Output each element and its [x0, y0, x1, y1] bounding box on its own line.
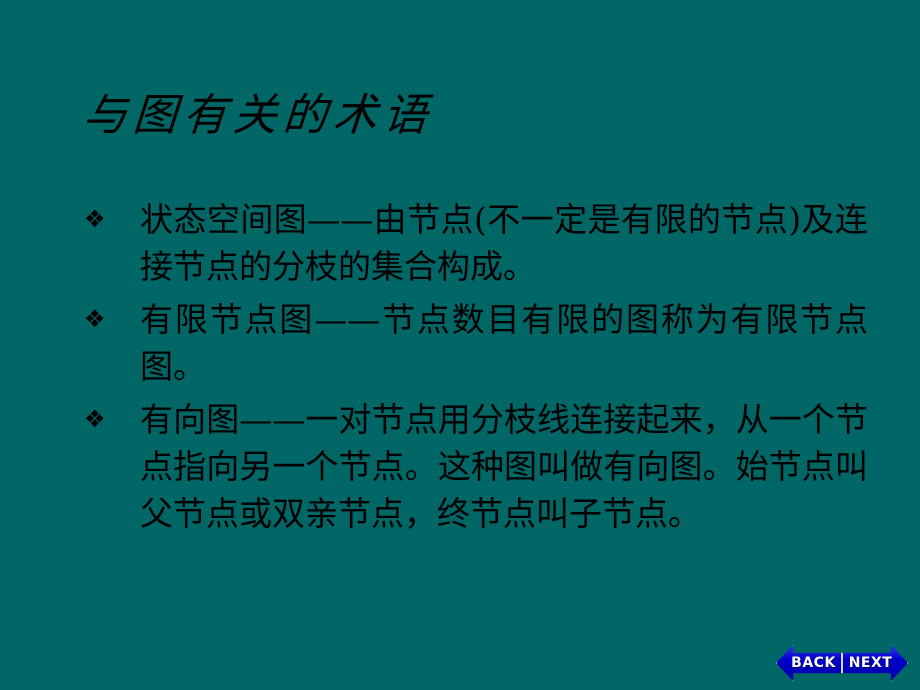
diamond-cluster-bullet-icon: ❖: [84, 396, 118, 443]
list-item: ❖ 有限节点图——节点数目有限的图称为有限节点图。: [78, 296, 868, 390]
arrow-right-icon: [842, 645, 908, 681]
list-item-text: 状态空间图——由节点(不一定是有限的节点)及连接节点的分枝的集合构成。: [140, 196, 868, 290]
slide-navigation: BACK NEXT: [776, 644, 912, 682]
diamond-cluster-bullet-icon: ❖: [84, 196, 118, 243]
list-item-text: 有向图——一对节点用分枝线连接起来，从一个节点指向另一个节点。这种图叫做有向图。…: [140, 396, 868, 537]
next-button[interactable]: NEXT: [842, 645, 908, 681]
list-item-text: 有限节点图——节点数目有限的图称为有限节点图。: [140, 296, 868, 390]
back-button[interactable]: BACK: [776, 645, 842, 681]
presentation-slide: 与图有关的术语 ❖ 状态空间图——由节点(不一定是有限的节点)及连接节点的分枝的…: [0, 0, 920, 690]
arrow-left-icon: [776, 645, 842, 681]
list-item: ❖ 有向图——一对节点用分枝线连接起来，从一个节点指向另一个节点。这种图叫做有向…: [78, 396, 868, 537]
diamond-cluster-bullet-icon: ❖: [84, 296, 118, 343]
bullet-list: ❖ 状态空间图——由节点(不一定是有限的节点)及连接节点的分枝的集合构成。 ❖ …: [78, 196, 868, 537]
page-title: 与图有关的术语: [81, 88, 435, 144]
list-item: ❖ 状态空间图——由节点(不一定是有限的节点)及连接节点的分枝的集合构成。: [78, 196, 868, 290]
